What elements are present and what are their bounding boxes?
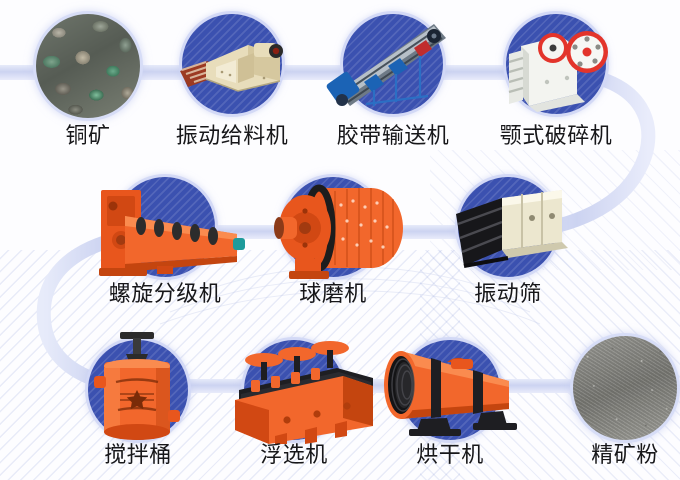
spiral-classifier-icon <box>97 182 247 282</box>
node-label-belt-conveyor: 胶带输送机 <box>337 124 450 148</box>
jaw-crusher-icon <box>503 18 609 114</box>
concentrate-powder-photo <box>573 336 677 440</box>
node-label-agitation-tank: 搅拌桶 <box>104 443 172 467</box>
vibrating-screen-icon <box>450 184 574 276</box>
node-label-vibrating-feeder: 振动给料机 <box>176 124 289 148</box>
belt-conveyor-icon <box>330 16 456 108</box>
copper-ore-photo <box>36 14 140 118</box>
node-label-jaw-crusher: 颚式破碎机 <box>500 124 613 148</box>
node-label-ball-mill: 球磨机 <box>299 282 367 306</box>
node-label-flotation-machine: 浮选机 <box>260 443 328 467</box>
node-label-spiral-classifier: 螺旋分级机 <box>109 282 222 306</box>
rotary-dryer-icon <box>377 333 527 443</box>
vibrating-feeder-icon <box>176 33 288 103</box>
node-label-rotary-dryer: 烘干机 <box>416 443 484 467</box>
node-label-copper-ore: 铜矿 <box>65 124 110 148</box>
process-flow-diagram: 铜矿 <box>0 0 680 480</box>
node-label-concentrate-powder: 精矿粉 <box>591 443 659 467</box>
flotation-machine-icon <box>225 332 375 444</box>
node-label-vibrating-screen: 振动筛 <box>474 282 542 306</box>
agitation-tank-icon <box>90 332 186 444</box>
ball-mill-icon <box>275 175 405 281</box>
